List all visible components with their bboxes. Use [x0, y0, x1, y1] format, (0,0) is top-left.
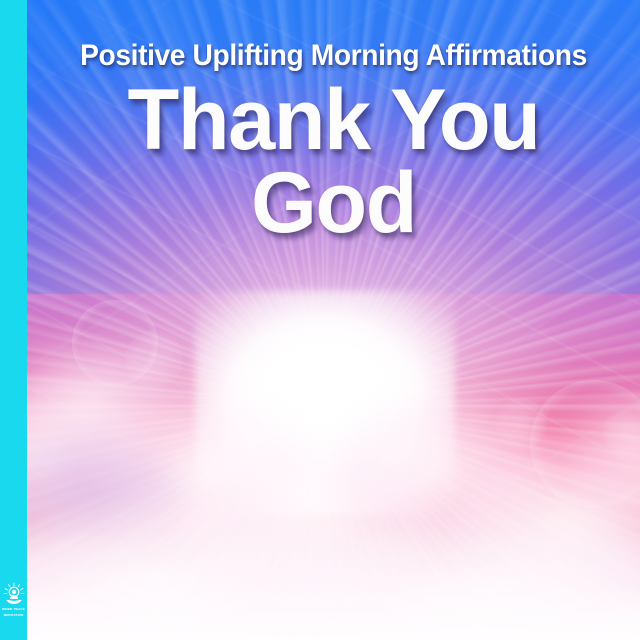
title-block: Positive Uplifting Morning Affirmations … [27, 0, 640, 245]
headline-line-1: Thank You [32, 79, 636, 162]
brand-logo: INNER PEACE MEDITATION [0, 582, 27, 618]
meditating-figure-lotus-icon [3, 582, 25, 606]
subtitle-text: Positive Uplifting Morning Affirmations [41, 41, 626, 71]
brand-logo-line2: MEDITATION [1, 614, 27, 618]
headline-line-2: God [32, 162, 636, 245]
brand-side-strip: INNER PEACE MEDITATION [0, 0, 27, 640]
album-cover-artwork: INNER PEACE MEDITATION Positive Upliftin… [0, 0, 640, 640]
headline-text: Thank You God [32, 79, 636, 246]
brand-logo-line1: INNER PEACE [1, 608, 27, 612]
bottom-haze [0, 531, 640, 640]
cloud-bank [0, 294, 640, 640]
